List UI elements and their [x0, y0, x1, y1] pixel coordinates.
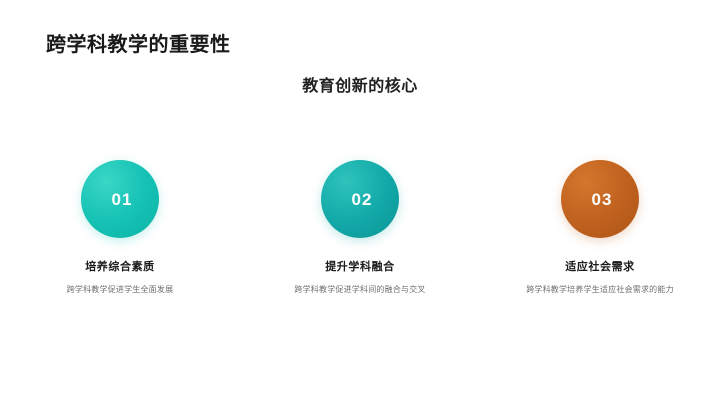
feature-description-03: 跨学科教学培养学生适应社会需求的能力 — [526, 283, 674, 297]
circle-wrapper-01: 01 — [70, 160, 170, 250]
number-circle-01: 01 — [81, 160, 159, 238]
circle-number-label-02: 02 — [352, 190, 373, 210]
number-circle-03: 03 — [561, 160, 639, 238]
feature-heading-01: 培养综合素质 — [85, 258, 155, 274]
feature-heading-02: 提升学科融合 — [325, 258, 395, 274]
feature-item-03: 03 适应社会需求 跨学科教学培养学生适应社会需求的能力 — [500, 160, 700, 297]
circle-number-label-01: 01 — [112, 190, 133, 210]
circle-wrapper-02: 02 — [310, 160, 410, 250]
feature-item-01: 01 培养综合素质 跨学科教学促进学生全面发展 — [20, 160, 220, 297]
page-title: 跨学科教学的重要性 — [46, 28, 231, 57]
page-subtitle: 教育创新的核心 — [0, 72, 720, 96]
circle-wrapper-03: 03 — [550, 160, 650, 250]
number-circle-02: 02 — [321, 160, 399, 238]
slide-canvas: 跨学科教学的重要性 教育创新的核心 01 培养综合素质 跨学科教学促进学生全面发… — [0, 0, 720, 404]
feature-heading-03: 适应社会需求 — [565, 258, 635, 274]
circle-number-label-03: 03 — [592, 190, 613, 210]
feature-description-02: 跨学科教学促进学科间的融合与交叉 — [294, 283, 425, 297]
feature-item-02: 02 提升学科融合 跨学科教学促进学科间的融合与交叉 — [260, 160, 460, 297]
feature-items-row: 01 培养综合素质 跨学科教学促进学生全面发展 02 提升学科融合 跨学科教学促… — [0, 160, 720, 297]
feature-description-01: 跨学科教学促进学生全面发展 — [67, 283, 174, 297]
